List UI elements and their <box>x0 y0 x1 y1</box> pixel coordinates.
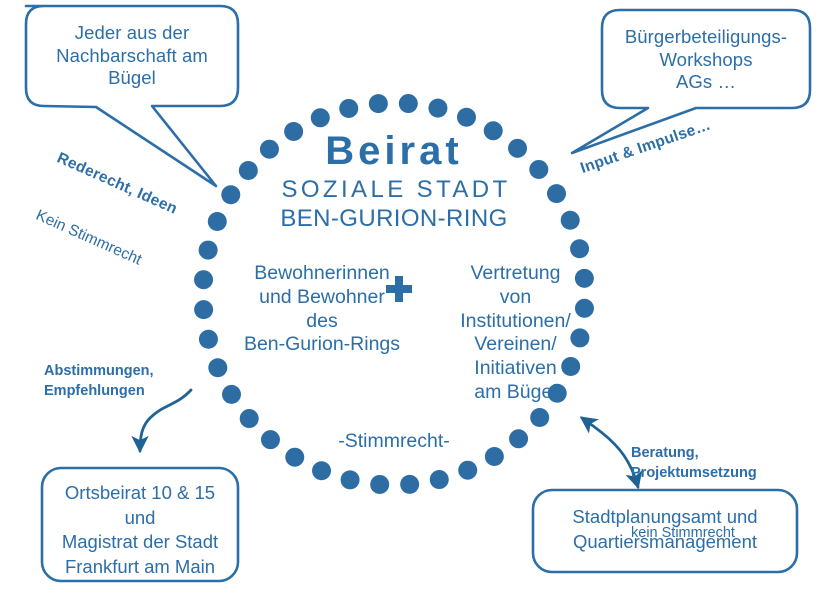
ring-dot <box>458 461 477 480</box>
box-bottom-left-text: Ortsbeirat 10 & 15 und Magistrat der Sta… <box>42 481 238 579</box>
ring-dot <box>208 358 227 377</box>
ring-dot <box>369 94 388 113</box>
ring-dot <box>570 239 589 258</box>
ring-dot <box>194 270 213 289</box>
page-subtitle-secondary: BEN-GURION-RING <box>194 204 594 233</box>
diagram-canvas: Jeder aus der Nachbarschaft am Bügel Red… <box>0 0 820 600</box>
ring-dot <box>311 108 330 127</box>
ring-dot <box>341 470 360 489</box>
speech-bubble-top-right-text: Bürgerbeteiligungs- Workshops AGs … <box>602 26 810 94</box>
ring-dot <box>400 475 419 494</box>
connector-label-bottom-left: Abstimmungen, Empfehlungen <box>44 361 154 401</box>
connector-label-bottom-right: Beratung, Projektumsetzung kein Stimmrec… <box>631 403 757 583</box>
speech-bubble-top-left-text: Jeder aus der Nachbarschaft am Bügel <box>26 22 238 90</box>
ring-dot <box>199 330 218 349</box>
connector-label-bottom-right-bold: Beratung, Projektumsetzung <box>631 443 757 483</box>
ring-dot <box>339 99 358 118</box>
ring-dot <box>370 475 389 494</box>
page-subtitle-primary: SOZIALE STADT <box>196 175 596 204</box>
plus-icon <box>386 276 412 302</box>
members-institutions-text: Vertretung von Institutionen/ Vereinen/ … <box>428 262 603 405</box>
ring-dot <box>194 300 213 319</box>
ring-dot <box>222 385 241 404</box>
ring-dot <box>428 99 447 118</box>
ring-dot <box>530 408 549 427</box>
connector-label-top-left-bold: Rederecht, Ideen <box>53 149 180 220</box>
page-title: Beirat <box>194 127 594 176</box>
ring-dot <box>312 461 331 480</box>
ring-dot <box>430 470 449 489</box>
arrow-ring-to-stadtplanungsamt <box>582 418 638 487</box>
ring-dot <box>457 108 476 127</box>
box-bottom-right-text: Stadtplanungsamt und Quartiersmanagement <box>533 505 797 554</box>
voting-rights-note: -Stimmrecht- <box>274 430 514 454</box>
ring-dot <box>399 94 418 113</box>
ring-dot <box>199 241 218 260</box>
ring-dot <box>240 409 259 428</box>
connector-label-top-left-regular: Kein Stimmrecht <box>33 206 156 276</box>
